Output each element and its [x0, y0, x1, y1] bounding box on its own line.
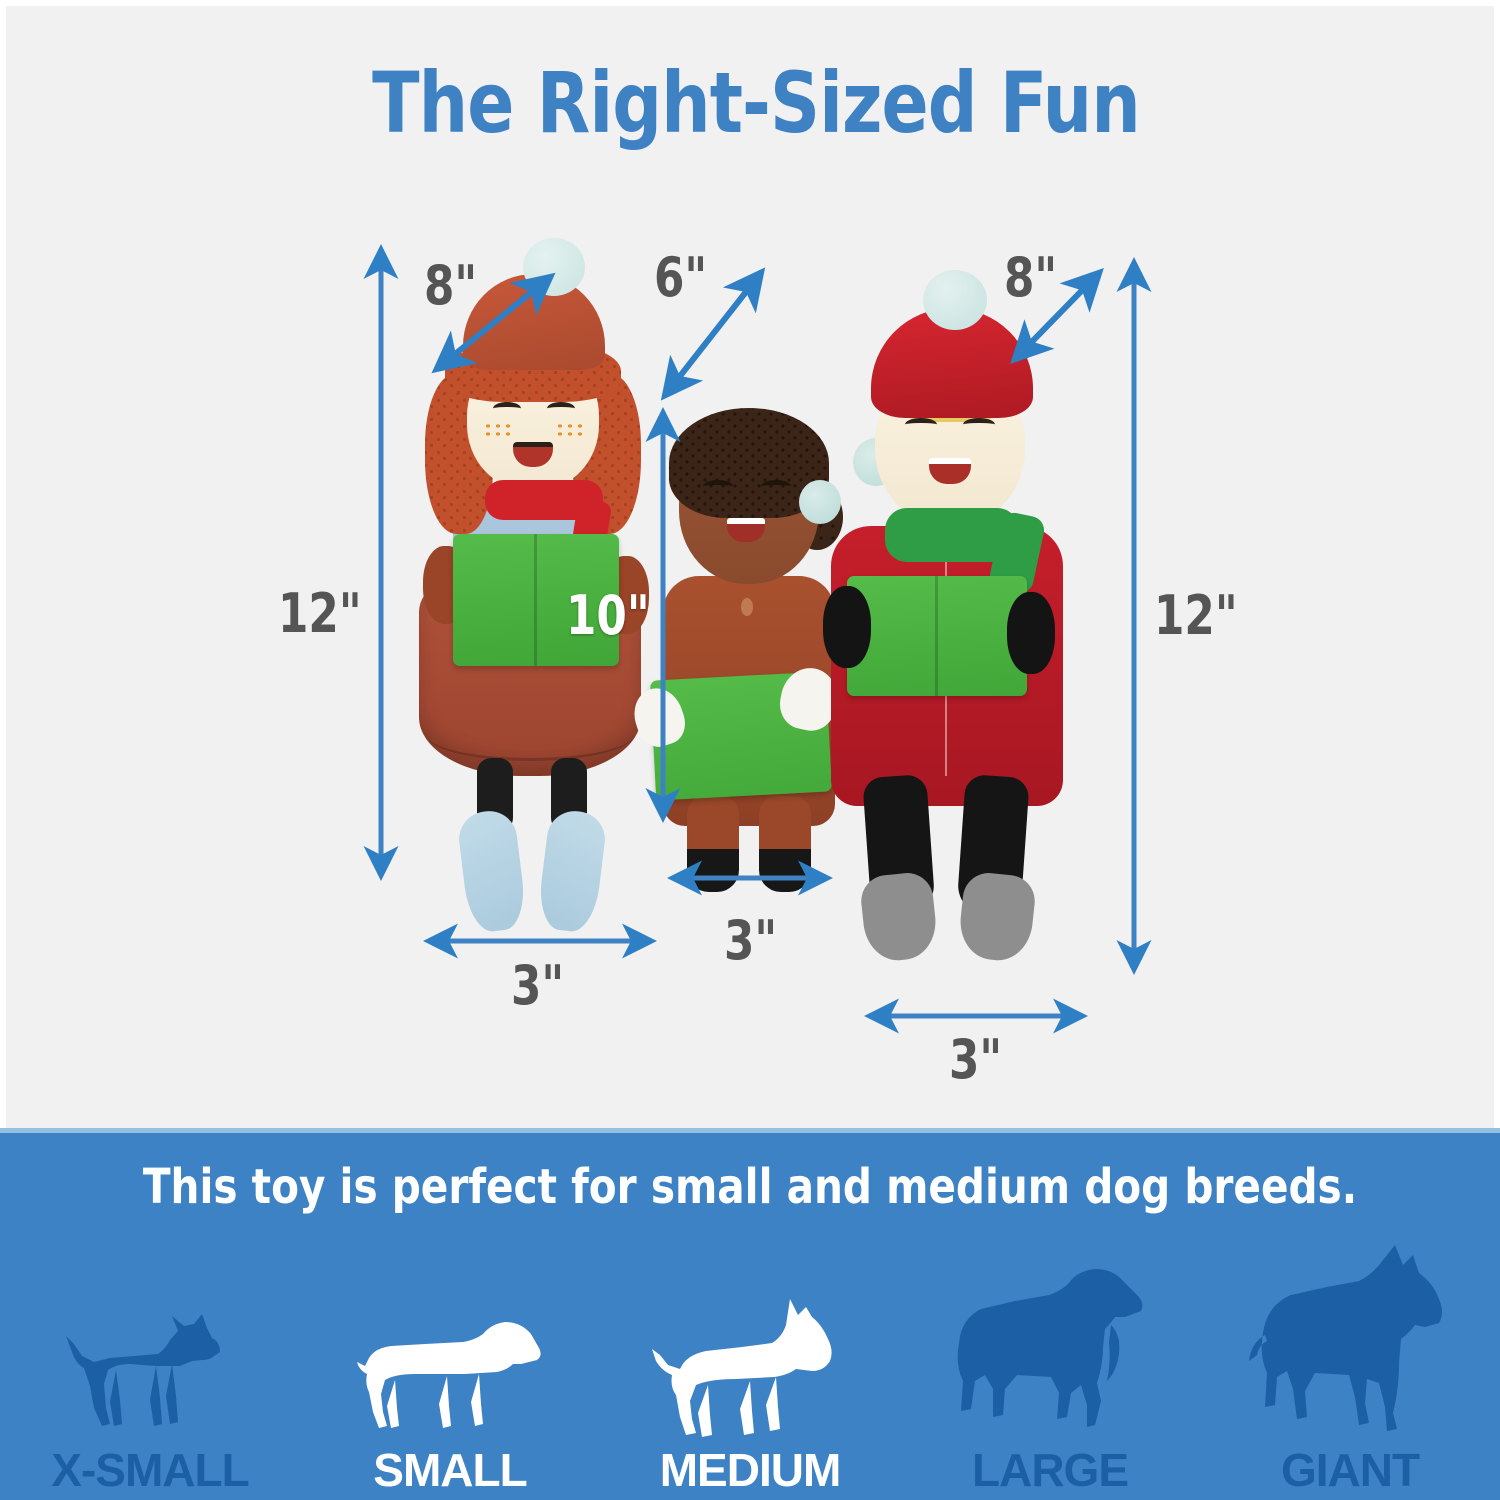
size-option-x-small[interactable]: X-SMALL [0, 1233, 300, 1493]
dog-size-scale: X-SMALL SMALL MEDIUM LA [0, 1233, 1500, 1493]
dimension-label-mid-diagonal: 6" [654, 246, 707, 309]
size-label-small: SMALL [373, 1447, 526, 1493]
bull-terrier-icon [650, 1293, 850, 1443]
chihuahua-icon [60, 1308, 240, 1443]
dimension-label-left-width: 3" [511, 954, 564, 1017]
page-title: The Right-Sized Fun [66, 54, 1446, 152]
dimension-label-mid-height: 10" [566, 584, 650, 647]
great-dane-icon [1243, 1243, 1458, 1443]
banner-headline: This toy is perfect for small and medium… [45, 1159, 1455, 1215]
size-label-giant: GIANT [1281, 1447, 1419, 1493]
size-option-large[interactable]: LARGE [900, 1233, 1200, 1493]
size-option-giant[interactable]: GIANT [1200, 1233, 1500, 1493]
dog-size-banner: This toy is perfect for small and medium… [0, 1128, 1500, 1500]
infographic-page: The Right-Sized Fun [0, 0, 1500, 1500]
size-label-x-small: X-SMALL [51, 1447, 248, 1493]
dimension-label-left-height: 12" [278, 582, 362, 645]
size-label-large: LARGE [972, 1447, 1128, 1493]
dimension-label-right-height: 12" [1154, 584, 1238, 647]
dimension-label-right-width: 3" [949, 1028, 1002, 1091]
product-photo-panel: The Right-Sized Fun [0, 0, 1500, 1128]
product-caroler-boy-red [811, 256, 1091, 996]
dachshund-icon [355, 1308, 545, 1443]
size-option-small[interactable]: SMALL [300, 1233, 600, 1493]
dimension-label-left-diagonal: 8" [424, 254, 477, 317]
product-group [386, 236, 1146, 996]
golden-retriever-icon [945, 1265, 1155, 1443]
dimension-label-mid-width: 3" [724, 909, 777, 972]
size-option-medium[interactable]: MEDIUM [600, 1233, 900, 1493]
size-label-medium: MEDIUM [660, 1447, 841, 1493]
dimension-label-right-diagonal: 8" [1004, 246, 1057, 309]
